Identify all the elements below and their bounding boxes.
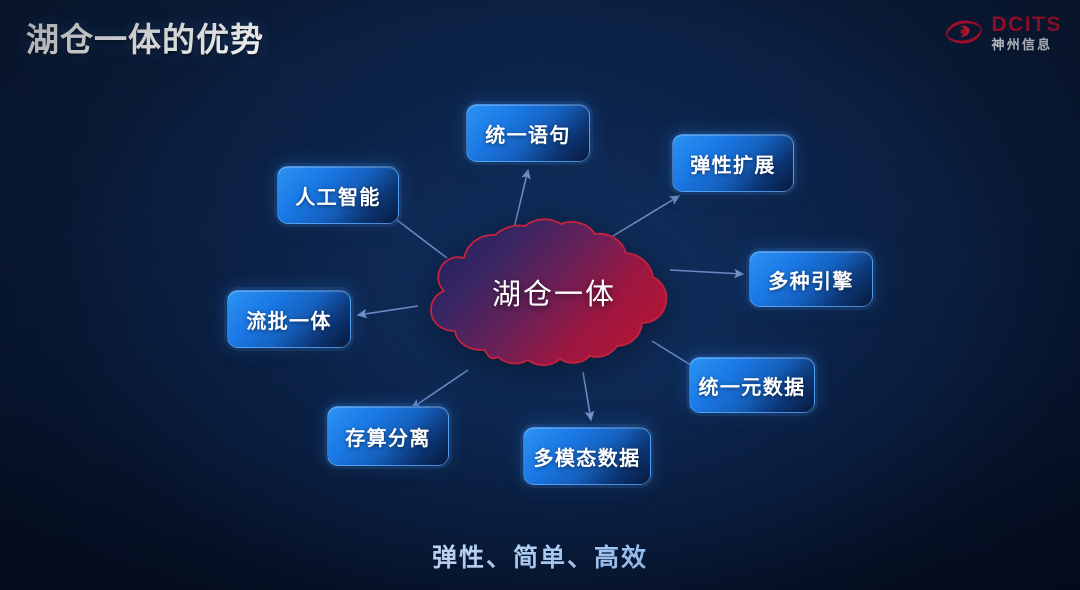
diagram-node-label: 人工智能 <box>295 181 381 210</box>
connector-arrow-5 <box>583 372 591 420</box>
diagram-node-7[interactable]: 流批一体 <box>227 290 351 348</box>
cloud-shape-icon <box>411 216 683 368</box>
diagram-node-label: 统一元数据 <box>699 371 806 400</box>
diagram-node-label: 多种引擎 <box>768 265 854 294</box>
diagram-node-2[interactable]: 弹性扩展 <box>672 134 794 192</box>
slide-canvas: 湖仓一体的优势 DCITS 神州信息 <box>0 0 1080 590</box>
diagram-node-6[interactable]: 存算分离 <box>327 406 449 466</box>
diagram-node-1[interactable]: 统一语句 <box>466 104 590 162</box>
diagram-node-label: 存算分离 <box>345 422 431 451</box>
center-cloud: 湖仓一体 <box>411 216 683 368</box>
diagram-node-4[interactable]: 统一元数据 <box>689 357 815 413</box>
diagram-node-8[interactable]: 人工智能 <box>277 166 399 224</box>
connector-arrow-7 <box>358 306 418 315</box>
connector-arrow-6 <box>412 370 468 408</box>
footer-caption: 弹性、简单、高效 <box>0 538 1080 574</box>
diagram-node-5[interactable]: 多模态数据 <box>523 427 651 485</box>
diagram-node-label: 流批一体 <box>246 305 332 334</box>
lakehouse-advantages-diagram: 湖仓一体 统一语句弹性扩展多种引擎统一元数据多模态数据存算分离流批一体人工智能 <box>0 0 1080 590</box>
diagram-node-3[interactable]: 多种引擎 <box>749 251 873 307</box>
diagram-node-label: 弹性扩展 <box>690 149 776 178</box>
diagram-node-label: 多模态数据 <box>534 442 641 471</box>
diagram-node-label: 统一语句 <box>485 119 571 148</box>
